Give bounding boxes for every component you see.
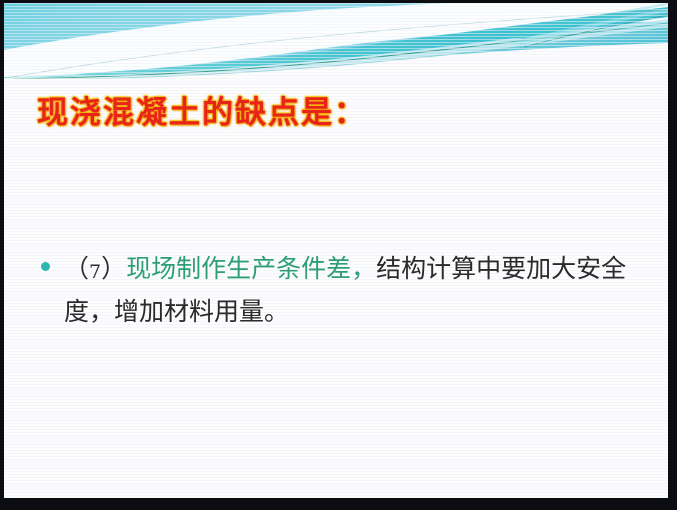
body-content: （7）现场制作生产条件差，结构计算中要加大安全度，增加材料用量。 [37, 249, 647, 331]
item-number-open-paren: （ [64, 254, 89, 283]
decorative-wave-band [4, 3, 668, 79]
highlighted-phrase: 现场制作生产条件差， [126, 254, 376, 283]
list-item: （7）现场制作生产条件差，结构计算中要加大安全度，增加材料用量。 [37, 249, 647, 331]
item-number-close-paren: ） [101, 254, 126, 283]
slide-canvas: 现浇混凝土的缺点是： （7）现场制作生产条件差，结构计算中要加大安全度，增加材料… [4, 3, 668, 498]
list-item-text: （7）现场制作生产条件差，结构计算中要加大安全度，增加材料用量。 [64, 249, 647, 331]
slide-frame: 现浇混凝土的缺点是： （7）现场制作生产条件差，结构计算中要加大安全度，增加材料… [0, 0, 677, 510]
bullet-dot-icon [41, 262, 50, 271]
title-block: 现浇混凝土的缺点是： [37, 95, 367, 132]
item-number: （7） [64, 254, 126, 283]
page-title: 现浇混凝土的缺点是： [37, 95, 367, 132]
item-number-value: 7 [89, 261, 101, 283]
